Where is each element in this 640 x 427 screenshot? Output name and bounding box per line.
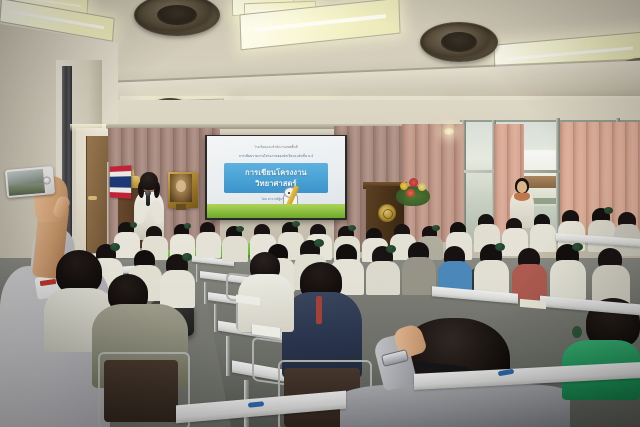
audience-body <box>196 232 221 258</box>
projection-screen: โรงเรียนและสำนักงานเขตพื้นที่ การเขียนรา… <box>207 136 345 218</box>
smartphone[interactable] <box>5 166 55 198</box>
portrait-stand <box>176 204 186 210</box>
slide-title-banner: การเขียนโครงงาน วิทยาศาสตร์ <box>224 163 328 193</box>
earring-icon <box>572 326 582 338</box>
flower-arrangement <box>396 176 430 206</box>
thai-flag-icon <box>110 165 131 198</box>
slide-header-line-1: โรงเรียนและสำนักงานเขตพื้นที่ <box>207 145 345 150</box>
slide-bottom-band <box>207 204 345 218</box>
hair-ribbon <box>184 223 191 229</box>
desk-leg <box>196 264 198 282</box>
hair-ribbon <box>386 245 396 253</box>
audience-body-gray-hoodie <box>340 384 570 427</box>
staff-head <box>517 181 527 193</box>
audience-body <box>222 236 248 262</box>
hair-ribbon <box>110 243 120 251</box>
classroom-photo: โรงเรียนและสำนักงานเขตพื้นที่ การเขียนรา… <box>0 0 640 427</box>
desk-leg <box>226 336 230 376</box>
phone-screen <box>7 169 45 196</box>
audience-body <box>530 224 556 252</box>
hair-ribbon <box>130 222 137 228</box>
flag-pole <box>107 162 109 250</box>
audience-body <box>550 260 586 300</box>
slide-header-line-2: การเขียนรายงานโครงงานของนักเรียนระดับชั้… <box>207 154 345 159</box>
door-handle-icon[interactable] <box>88 196 97 200</box>
portrait-face <box>176 180 186 192</box>
hair-ribbon <box>314 239 324 247</box>
audience-body <box>160 270 195 308</box>
lanyard <box>316 296 322 324</box>
presenter-hair <box>140 172 158 190</box>
desk-leg <box>204 282 207 304</box>
audience-body <box>366 261 400 295</box>
microphone-head-icon <box>145 190 151 196</box>
slide-title-line-1: การเขียนโครงงาน <box>245 167 307 178</box>
hair-ribbon <box>495 243 505 251</box>
hair-ribbon <box>432 225 440 231</box>
hair-ribbon <box>348 225 356 231</box>
ac-diffuser-icon <box>420 22 498 62</box>
hair-ribbon <box>572 243 583 251</box>
hair-ribbon <box>182 253 192 261</box>
staff-scarf <box>514 192 530 201</box>
hair-ribbon <box>292 221 300 227</box>
wall-spotlight <box>444 128 454 135</box>
hair-ribbon <box>604 207 613 214</box>
slide-footer-line: โดย อาจารย์ผู้บรรยาย <box>207 197 345 202</box>
podium-gold-seal-icon <box>378 204 396 222</box>
audience-body <box>402 257 436 295</box>
hair-ribbon <box>236 226 244 232</box>
phone-home-button-icon[interactable] <box>43 176 52 185</box>
desk-leg <box>214 304 217 332</box>
